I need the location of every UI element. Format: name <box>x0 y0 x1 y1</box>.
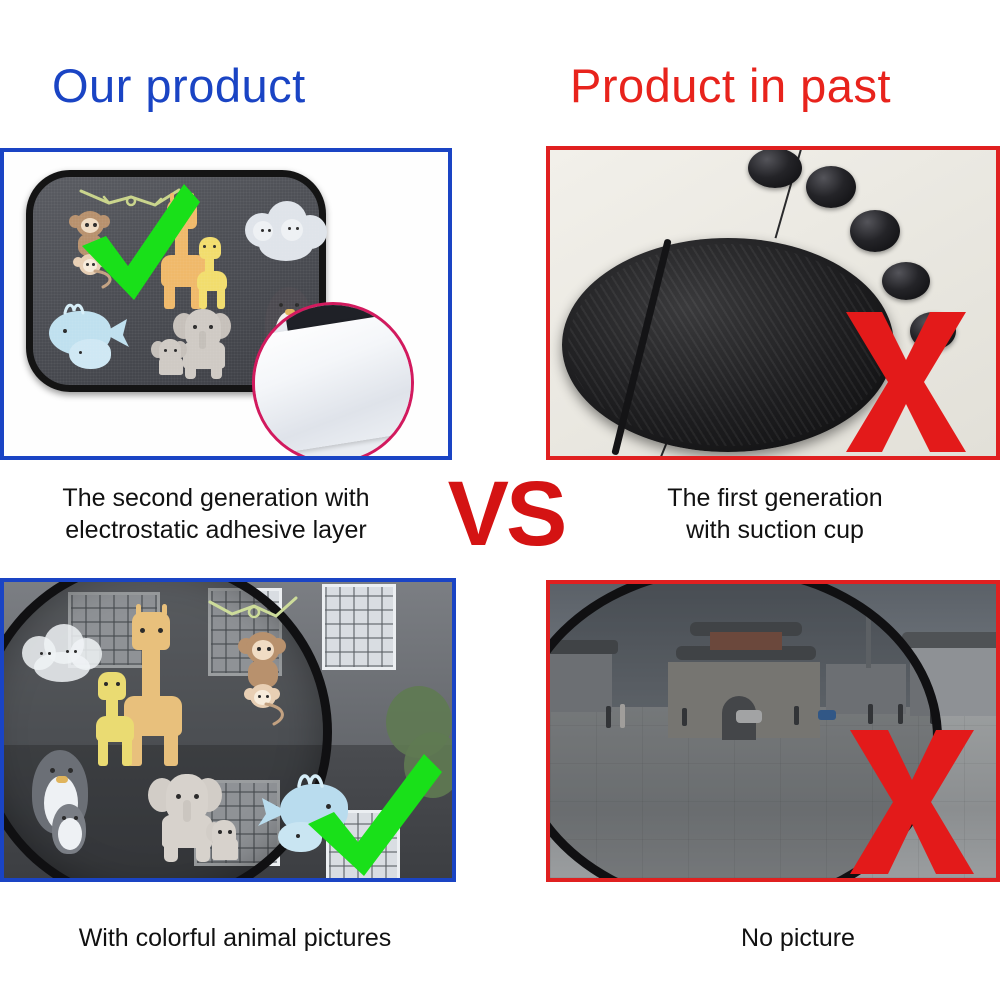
elephant-decal-pair <box>132 770 238 868</box>
panel-bottom-left-installed-view <box>0 578 456 882</box>
electrostatic-film <box>252 308 414 456</box>
caption-top-left: The second generation with electrostatic… <box>8 482 424 546</box>
heading-product-in-past: Product in past <box>570 58 891 113</box>
green-check-icon <box>304 750 446 878</box>
adhesive-layer-magnifier-inset <box>252 302 414 456</box>
panel-top-left-our-product <box>0 148 452 460</box>
comparison-infographic: Our product Product in past <box>0 0 1000 1000</box>
elephant-decal-pair <box>151 305 243 381</box>
vs-label: VS <box>432 462 580 567</box>
monkey-decal-pair <box>236 626 296 736</box>
installed-sunshade-photo <box>4 582 452 878</box>
koala-cloud-decal <box>20 622 106 688</box>
caption-top-right: The first generation with suction cup <box>600 482 950 546</box>
roof-right <box>902 632 996 648</box>
giraffe-decal-pair <box>110 604 206 764</box>
panel-bottom-right-plain-shade <box>546 580 1000 882</box>
suction-cup-shade-photo <box>550 150 996 456</box>
heading-our-product: Our product <box>52 58 306 113</box>
suction-cup-3 <box>850 210 900 252</box>
caption-bottom-left: With colorful animal pictures <box>10 922 460 954</box>
red-x-icon <box>836 726 988 878</box>
penguin-decal-pair <box>24 750 106 868</box>
whale-decal-pair <box>47 303 133 375</box>
red-x-icon <box>832 308 980 456</box>
vine-decal <box>208 594 298 628</box>
product-photo-sunshade <box>4 152 448 456</box>
green-check-icon <box>76 178 204 306</box>
koala-cloud-decal <box>241 199 331 267</box>
suction-cup-4 <box>882 262 930 300</box>
suction-cup-2 <box>806 166 856 208</box>
caption-bottom-right: No picture <box>648 922 948 954</box>
house-window-right <box>322 584 396 670</box>
plain-shade-photo <box>550 584 996 878</box>
panel-top-right-product-in-past <box>546 146 1000 460</box>
